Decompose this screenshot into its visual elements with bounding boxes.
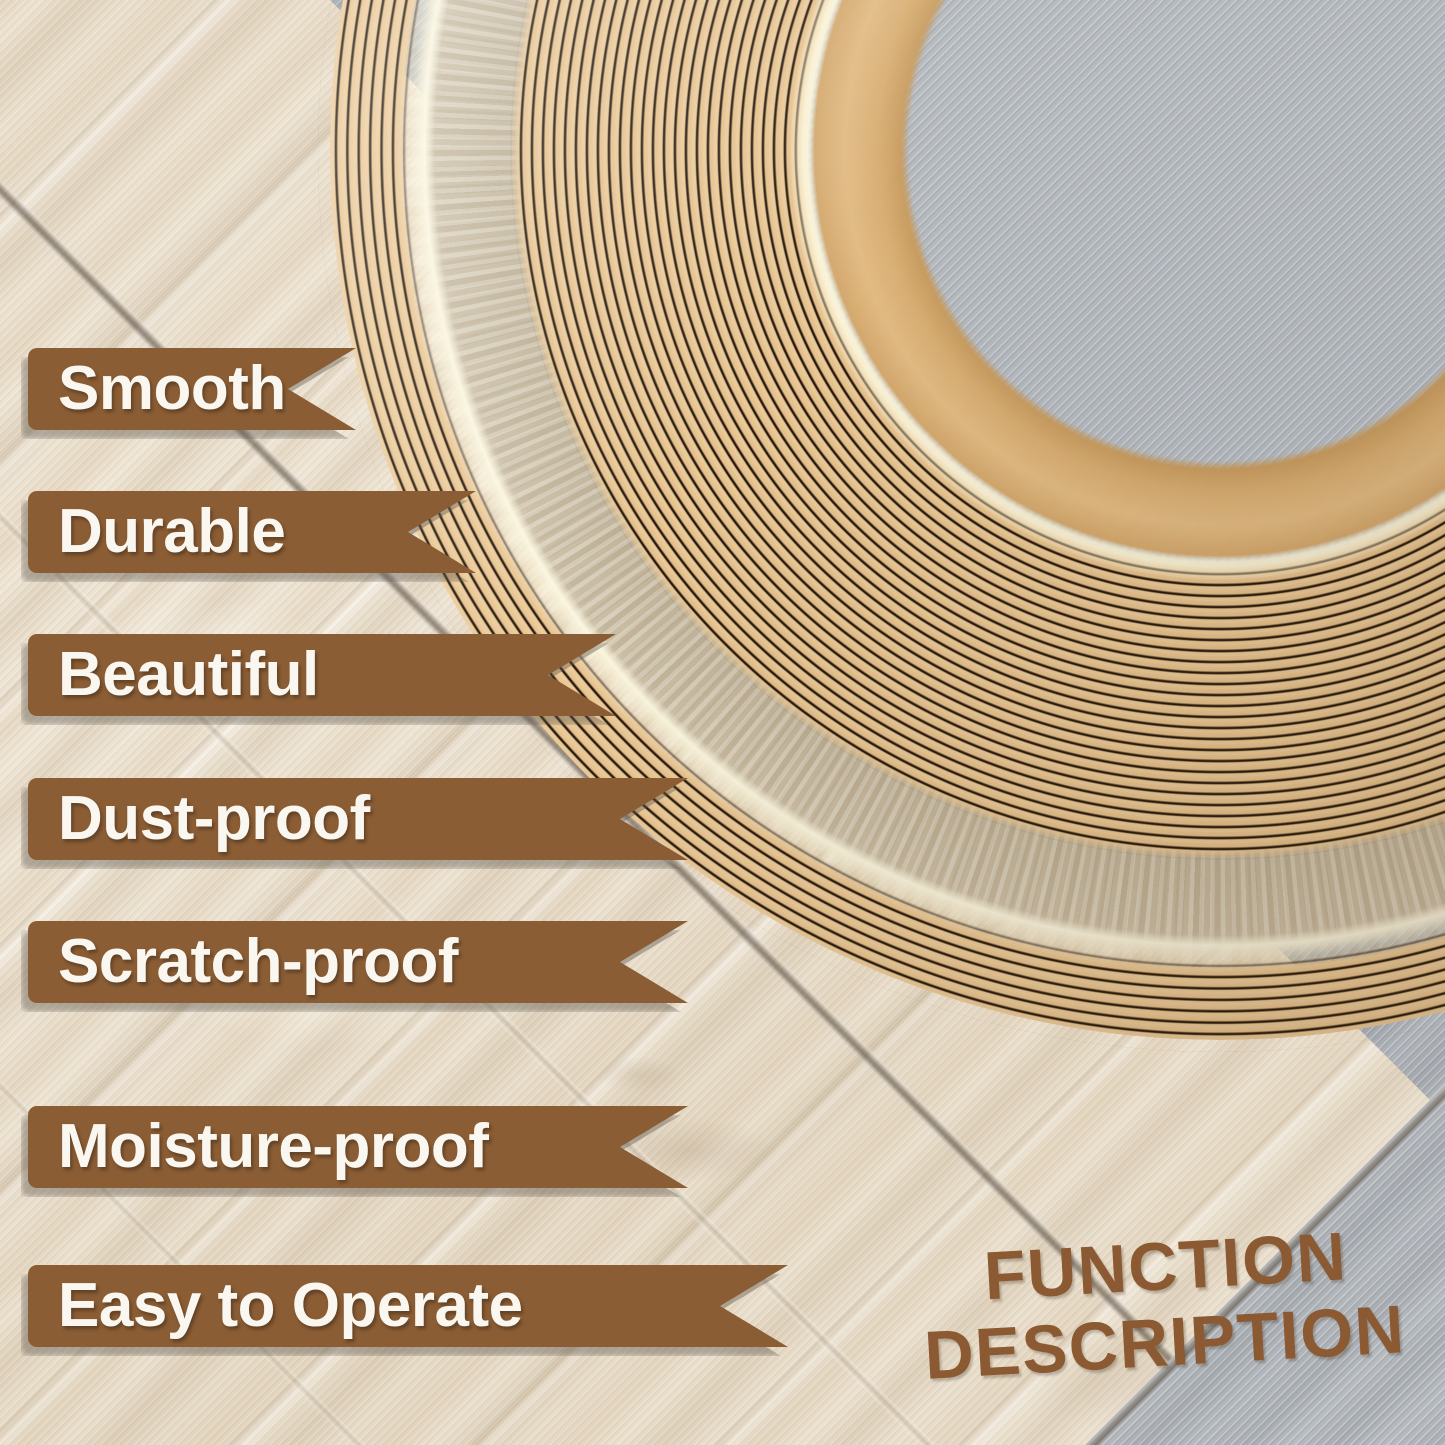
feature-ribbon-label: Durable xyxy=(58,501,285,563)
feature-ribbon-label: Smooth xyxy=(58,358,286,420)
feature-ribbon-label: Beautiful xyxy=(58,644,319,706)
feature-ribbon-label: Dust-proof xyxy=(58,788,370,850)
function-description-heading: FUNCTION DESCRIPTION xyxy=(918,1215,1407,1394)
product-infographic: SmoothDurableBeautifulDust-proofScratch-… xyxy=(0,0,1445,1445)
feature-ribbon-label: Easy to Operate xyxy=(58,1275,523,1337)
feature-ribbon-label: Moisture-proof xyxy=(58,1116,488,1178)
feature-ribbon: Scratch-proof xyxy=(28,921,690,1003)
feature-ribbon: Dust-proof xyxy=(28,778,690,860)
feature-ribbon: Smooth xyxy=(28,348,358,430)
feature-ribbon: Durable xyxy=(28,491,478,573)
feature-ribbon: Moisture-proof xyxy=(28,1106,690,1188)
feature-ribbon-label: Scratch-proof xyxy=(58,931,458,993)
feature-ribbon: Easy to Operate xyxy=(28,1265,790,1347)
feature-ribbon: Beautiful xyxy=(28,634,618,716)
